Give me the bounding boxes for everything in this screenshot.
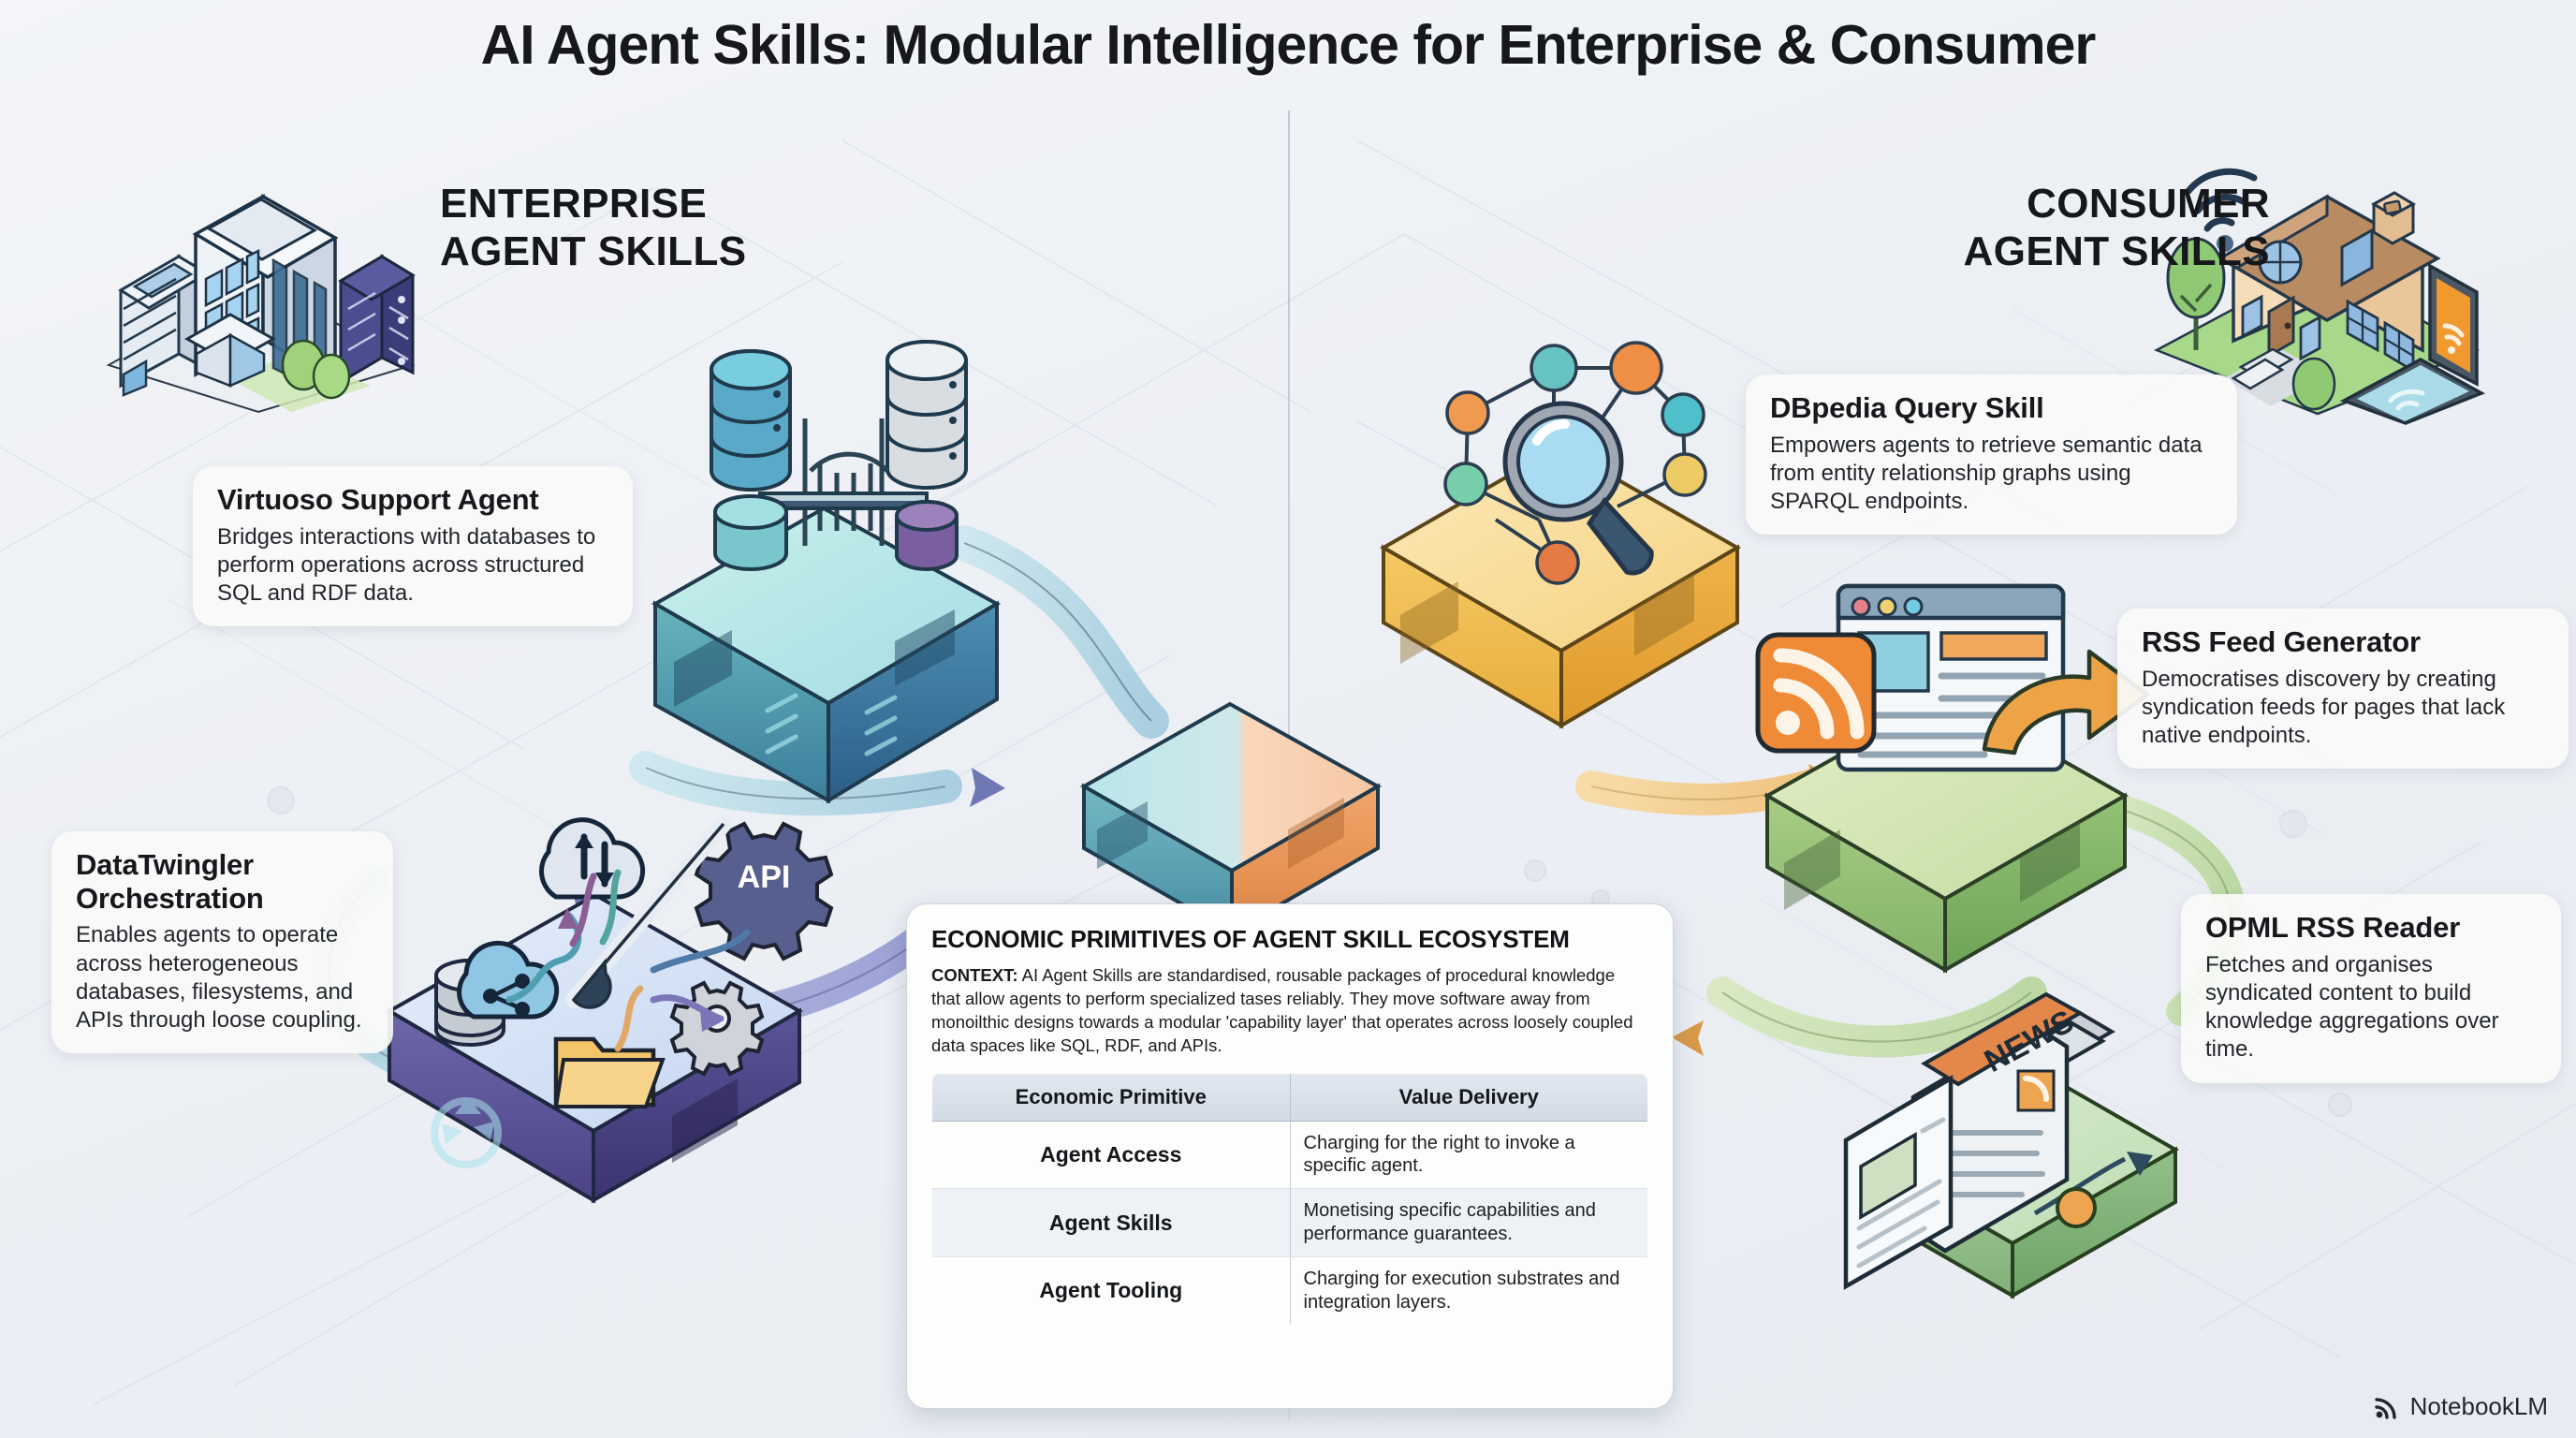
section-heading-consumer-line1: CONSUMER [1821,181,2270,228]
section-heading-enterprise-line2: AGENT SKILLS [440,228,746,276]
card-body: Democratises discovery by creating syndi… [2142,666,2544,751]
cell-primitive: Agent Skills [932,1189,1291,1257]
economic-primitives-table: Economic Primitive Value Delivery Agent … [931,1073,1648,1326]
notebooklm-watermark: NotebookLM [2373,1392,2548,1421]
infographic-canvas: API [0,0,2576,1438]
section-heading-enterprise: ENTERPRISE AGENT SKILLS [440,181,746,275]
table-row: Agent Tooling Charging for execution sub… [932,1256,1648,1325]
card-title: DataTwingler Orchestration [76,848,369,915]
card-body: Bridges interactions with databases to p… [217,523,608,609]
api-gear-label: API [738,859,791,895]
panel-context-label: CONTEXT: [931,965,1018,985]
card-opml-rss-reader: OPML RSS Reader Fetches and organises sy… [2181,894,2561,1083]
column-header-primitive: Economic Primitive [932,1073,1291,1121]
card-virtuoso-support-agent: Virtuoso Support Agent Bridges interacti… [193,466,633,626]
cell-value: Monetising specific capabilities and per… [1290,1189,1648,1257]
economic-primitives-panel: ECONOMIC PRIMITIVES OF AGENT SKILL ECOSY… [906,903,1674,1409]
page-title: AI Agent Skills: Modular Intelligence fo… [0,13,2576,77]
table-row: Agent Skills Monetising specific capabil… [932,1189,1648,1257]
table-row: Agent Access Charging for the right to i… [932,1121,1648,1189]
column-header-value: Value Delivery [1290,1073,1648,1121]
card-title: RSS Feed Generator [2142,625,2544,659]
section-heading-enterprise-line1: ENTERPRISE [440,181,746,228]
notebooklm-rss-icon [2373,1393,2401,1421]
card-body: Empowers agents to retrieve semantic dat… [1770,432,2213,517]
card-rss-feed-generator: RSS Feed Generator Democratises discover… [2117,609,2569,769]
cell-primitive: Agent Access [932,1121,1291,1189]
panel-context: CONTEXT: AI Agent Skills are standardise… [931,963,1648,1058]
cell-value: Charging for execution substrates and in… [1290,1256,1648,1325]
card-body: Enables agents to operate across heterog… [76,921,369,1034]
panel-context-body: AI Agent Skills are standardised, rousab… [931,965,1633,1055]
watermark-label: NotebookLM [2410,1392,2548,1421]
card-datatwingler-orchestration: DataTwingler Orchestration Enables agent… [51,831,393,1053]
card-body: Fetches and organises syndicated content… [2205,951,2537,1064]
card-title: DBpedia Query Skill [1770,391,2213,425]
cell-value: Charging for the right to invoke a speci… [1290,1121,1648,1189]
datatwingler-orchestration-node: API [373,768,897,1208]
cell-primitive: Agent Tooling [932,1256,1291,1325]
table-header-row: Economic Primitive Value Delivery [932,1073,1648,1121]
card-title: OPML RSS Reader [2205,911,2537,945]
section-heading-consumer: CONSUMER AGENT SKILLS [1821,181,2270,275]
panel-title: ECONOMIC PRIMITIVES OF AGENT SKILL ECOSY… [931,925,1648,954]
section-heading-consumer-line2: AGENT SKILLS [1821,228,2270,276]
card-title: Virtuoso Support Agent [217,483,608,517]
card-dbpedia-query-skill: DBpedia Query Skill Empowers agents to r… [1746,374,2237,535]
